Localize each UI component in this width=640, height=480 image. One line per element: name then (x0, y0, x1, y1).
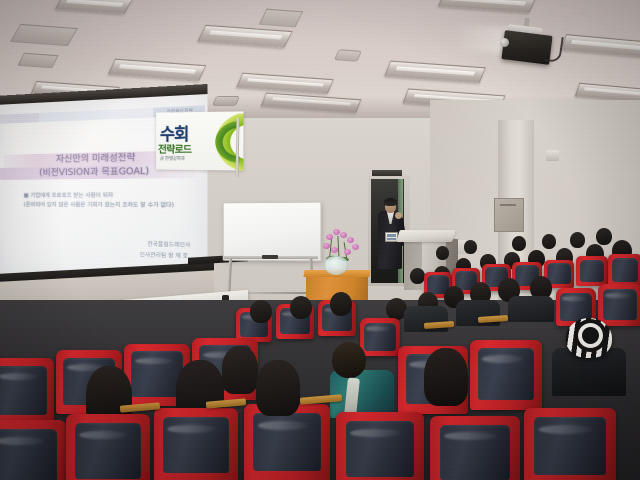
audience-head (410, 268, 425, 284)
slide-signature-line2: 인사관리팀 정 재 호 (65, 249, 188, 261)
auditorium-seat (336, 412, 424, 480)
audience-head (436, 246, 449, 260)
ceiling-vent (17, 53, 58, 69)
orchid-flower (333, 229, 340, 235)
doorway-header-sign (372, 170, 402, 176)
orchid-flower (323, 243, 330, 249)
audience-head (330, 292, 352, 316)
banner-title: 수회 (160, 126, 188, 144)
mobile-whiteboard (223, 202, 322, 262)
audience-head (222, 346, 258, 394)
auditorium-seat (608, 254, 640, 286)
orchid-flower (347, 237, 354, 243)
lecture-hall-photo: 기업혁신전략 자신만의 미래성전략 (비전VISION과 목표GOAL) ■ 기… (0, 0, 640, 480)
audience-head (570, 232, 585, 248)
orchid-flower (340, 232, 347, 238)
lectern-top-surface (396, 230, 455, 242)
wall-banner: 수회 전략로드 글 한맹공학과 (156, 111, 243, 170)
audience-head (290, 296, 312, 319)
slide-bullet: ■ 기업에게 프로포즈 받는 사람이 되자 (24, 191, 177, 200)
audience-head (250, 300, 272, 323)
projector-indicator-led (529, 30, 532, 33)
orchid-flower (352, 244, 359, 250)
audience-shoulders (508, 296, 554, 322)
slide-subtitle: (준비되어 있지 않은 사람은 기회가 왔는지 조차도 알 수가 없다) (4, 201, 198, 210)
audience-head (512, 236, 526, 251)
audience-head (424, 348, 468, 406)
banner-swoosh-accent (199, 120, 239, 165)
orchid-flower (331, 247, 338, 253)
orchid-flower (344, 249, 351, 255)
ceiling-vent (259, 9, 304, 28)
projector-indicator-led (515, 28, 518, 31)
slide-header-left-block (0, 113, 39, 124)
wall-access-panel (494, 198, 524, 232)
auditorium-seat (154, 408, 238, 480)
auditorium-seat (360, 318, 400, 356)
wall-speaker (546, 150, 559, 161)
banner-subtitle: 전략로드 (158, 145, 191, 156)
auditorium-seat (0, 420, 66, 480)
ceiling-vent (334, 49, 362, 62)
auditorium-seat (524, 408, 616, 480)
auditorium-seat (576, 256, 608, 286)
projector-indicator-led (522, 29, 525, 32)
auditorium-seat (430, 416, 520, 480)
audience-head (332, 342, 366, 378)
banner-caption: 글 한맹공학과 (160, 157, 185, 163)
slide-signature-line1: 한국품질드레인사 (65, 238, 191, 250)
beanie-swirl-pattern (582, 327, 599, 344)
audience-head (542, 234, 556, 249)
orchid-glass-vase (324, 256, 348, 275)
whiteboard-tray-grip (262, 255, 278, 259)
auditorium-seat (470, 340, 542, 410)
auditorium-seat (0, 358, 54, 424)
striped-beanie-hat (566, 318, 612, 358)
audience-head (464, 240, 477, 254)
audience-head (256, 360, 300, 416)
presenter-hair (384, 198, 397, 206)
orchid-flower (326, 234, 333, 240)
presenter-hand (395, 212, 402, 219)
audience-head (596, 228, 612, 245)
auditorium-seat (66, 414, 150, 480)
auditorium-seat (598, 284, 640, 326)
